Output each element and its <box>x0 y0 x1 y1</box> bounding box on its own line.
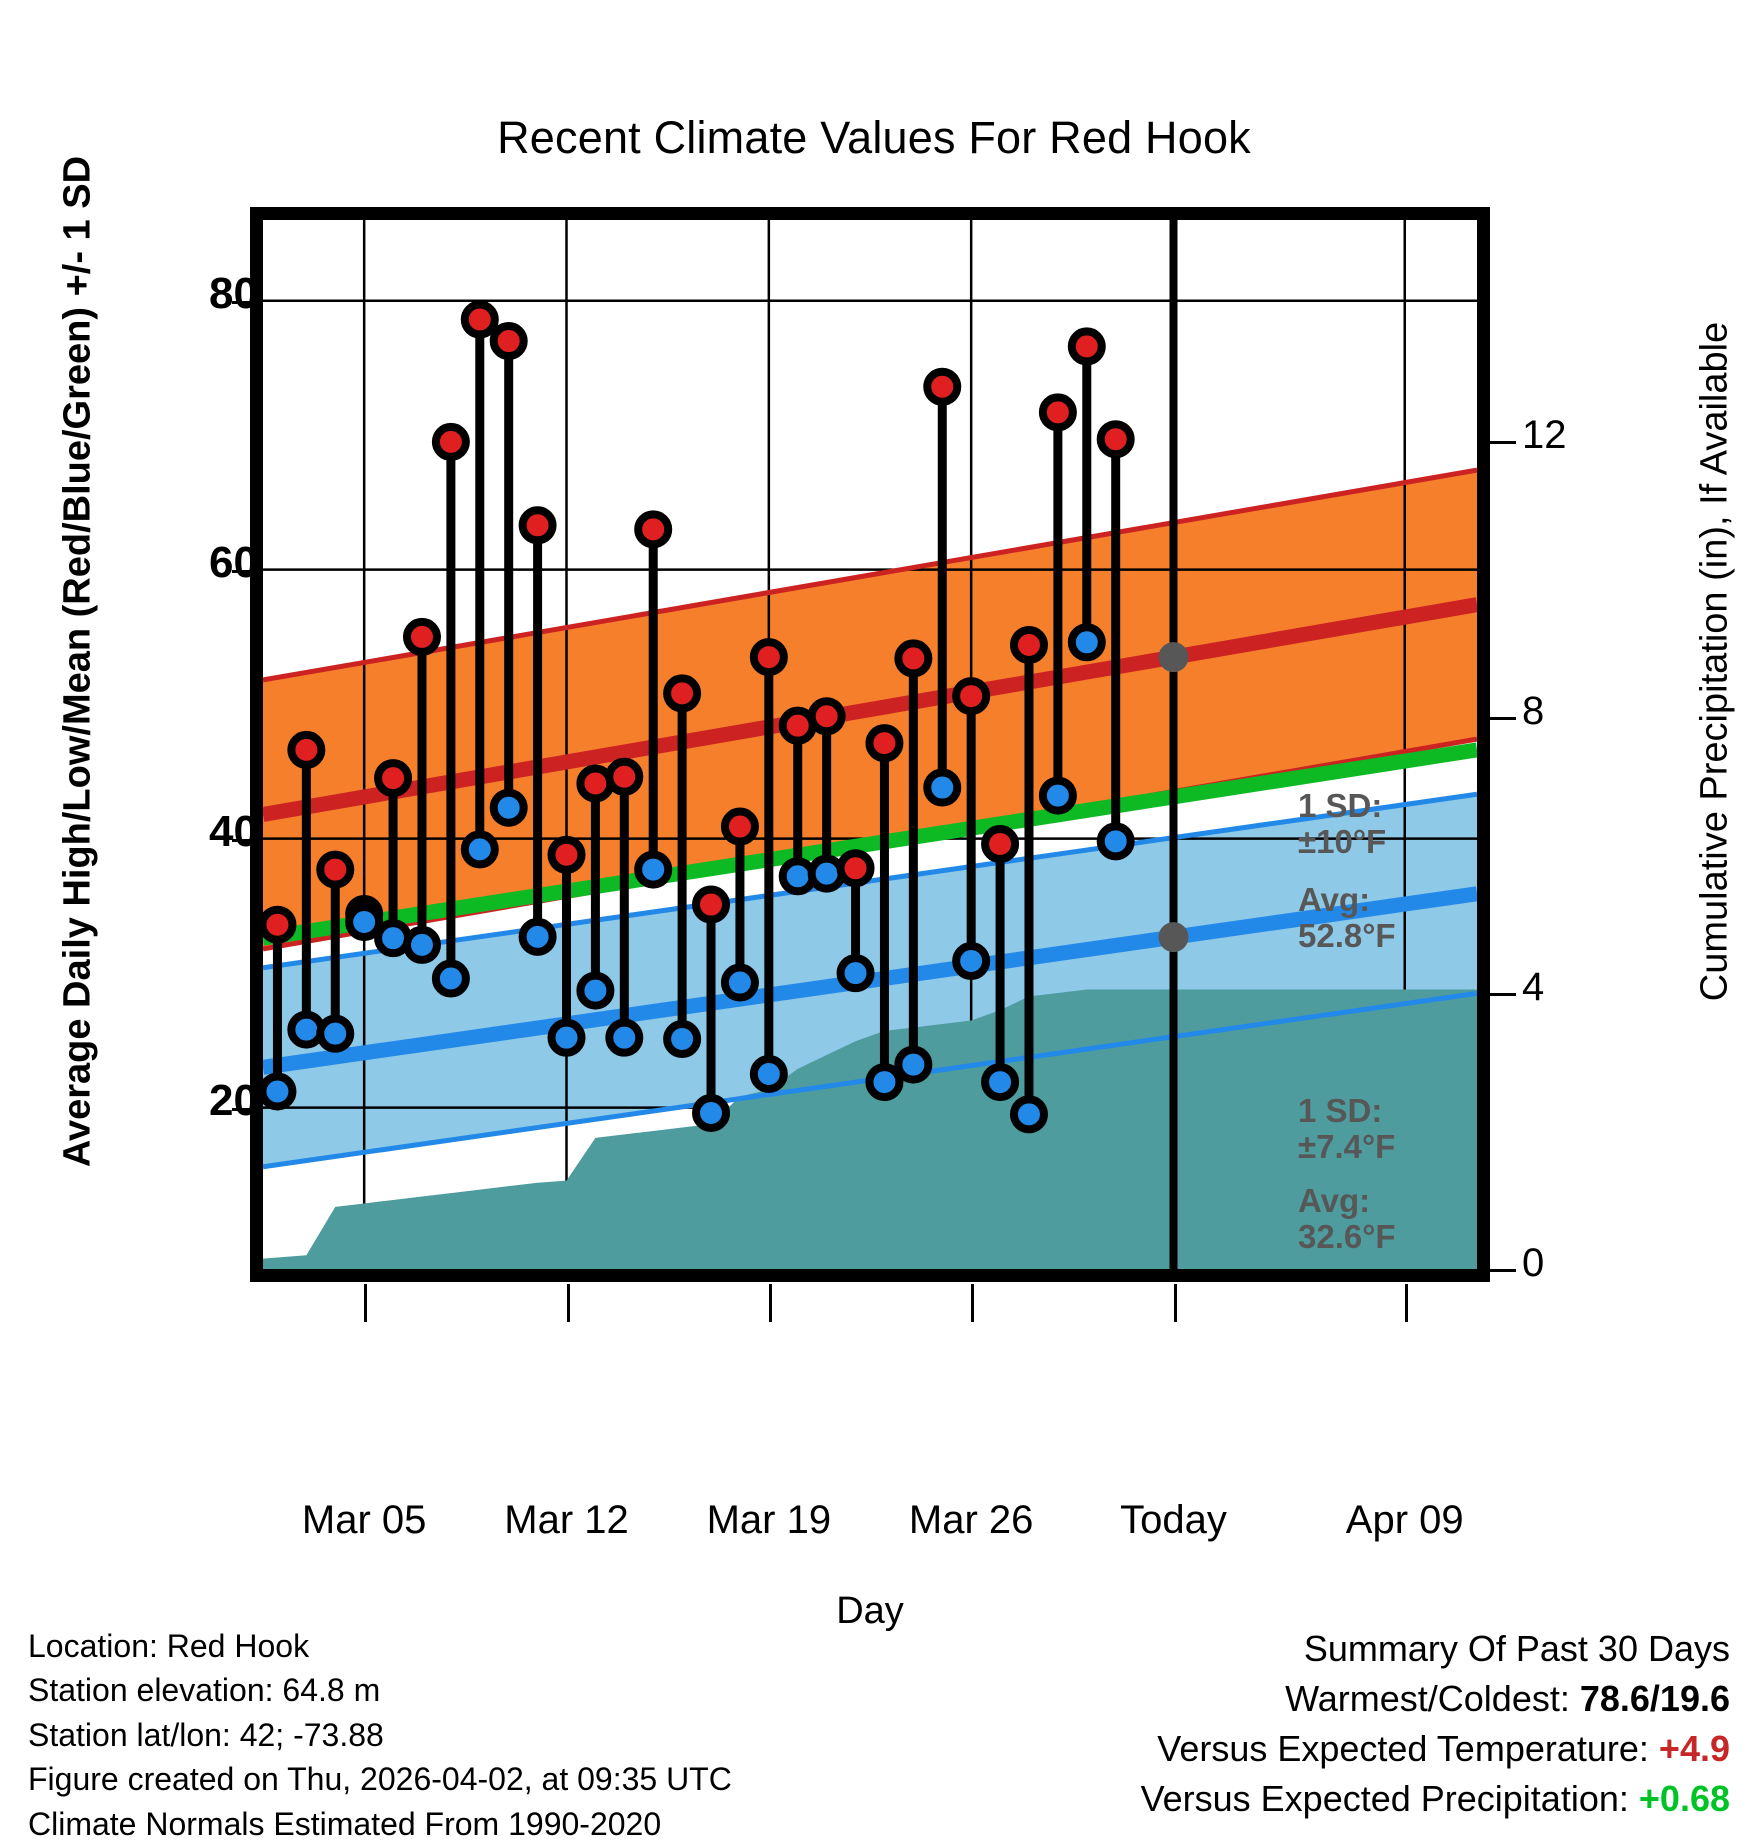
plot-canvas <box>263 220 1477 1269</box>
summary-warmest-coldest: Warmest/Coldest: 78.6/19.6 <box>1141 1674 1730 1724</box>
y-tick-mark-left <box>232 301 254 304</box>
meta-normals: Climate Normals Estimated From 1990-2020 <box>28 1802 732 1846</box>
summary-heading: Summary Of Past 30 Days <box>1141 1624 1730 1674</box>
x-tick-mark <box>971 1284 974 1322</box>
red-sd-annotation: 1 SD:±10°F <box>1298 788 1386 859</box>
y-tick-mark-left <box>232 839 254 842</box>
metadata-block: Location: Red Hook Station elevation: 64… <box>28 1624 732 1846</box>
meta-location: Location: Red Hook <box>28 1624 732 1668</box>
temp-label: Versus Expected Temperature: <box>1157 1728 1649 1769</box>
meta-elevation: Station elevation: 64.8 m <box>28 1668 732 1712</box>
red-avg-annotation: Avg:52.8°F <box>1298 882 1396 953</box>
warmest-coldest-value: 78.6/19.6 <box>1580 1678 1730 1719</box>
x-tick-mark <box>1405 1284 1408 1322</box>
plot-area: 1 SD:±10°F Avg:52.8°F 1 SD:±7.4°F Avg:32… <box>250 207 1490 1282</box>
blue-sd-annotation: 1 SD:±7.4°F <box>1298 1093 1395 1164</box>
y-tick-left-20: 20 <box>78 1076 258 1126</box>
x-tick-today: Today <box>1054 1498 1294 1543</box>
precip-value: +0.68 <box>1639 1778 1730 1819</box>
y-tick-right-12: 12 <box>1522 413 1642 458</box>
y-tick-left-80: 80 <box>78 269 258 319</box>
temp-value: +4.9 <box>1659 1728 1730 1769</box>
blue-avg-annotation: Avg:32.6°F <box>1298 1183 1396 1254</box>
summary-temperature: Versus Expected Temperature: +4.9 <box>1141 1724 1730 1774</box>
y-tick-mark-left <box>232 1108 254 1111</box>
y-tick-mark-right <box>1490 717 1516 720</box>
y-tick-right-4: 4 <box>1522 965 1642 1010</box>
y-axis-right-title: Cumulative Precipitation (in), If Availa… <box>1694 132 1737 1192</box>
x-tick-mark <box>364 1284 367 1322</box>
summary-precipitation: Versus Expected Precipitation: +0.68 <box>1141 1774 1730 1824</box>
y-tick-left-60: 60 <box>78 538 258 588</box>
y-tick-mark-right <box>1490 993 1516 996</box>
precip-label: Versus Expected Precipitation: <box>1141 1778 1629 1819</box>
y-tick-mark-right <box>1490 1269 1516 1272</box>
summary-block: Summary Of Past 30 Days Warmest/Coldest:… <box>1141 1624 1730 1824</box>
x-tick-apr-09: Apr 09 <box>1285 1498 1525 1543</box>
y-tick-right-8: 8 <box>1522 689 1642 734</box>
y-tick-right-0: 0 <box>1522 1241 1642 1286</box>
x-tick-mark <box>769 1284 772 1322</box>
page-title: Recent Climate Values For Red Hook <box>0 112 1748 164</box>
x-tick-mark <box>1174 1284 1177 1322</box>
y-tick-mark-right <box>1490 441 1516 444</box>
meta-latlon: Station lat/lon: 42; -73.88 <box>28 1713 732 1757</box>
x-tick-mark <box>567 1284 570 1322</box>
warmest-coldest-label: Warmest/Coldest: <box>1285 1678 1570 1719</box>
meta-created: Figure created on Thu, 2026-04-02, at 09… <box>28 1757 732 1801</box>
climate-plot-svg <box>263 220 1477 1269</box>
y-tick-mark-left <box>232 570 254 573</box>
y-tick-left-40: 40 <box>78 807 258 857</box>
